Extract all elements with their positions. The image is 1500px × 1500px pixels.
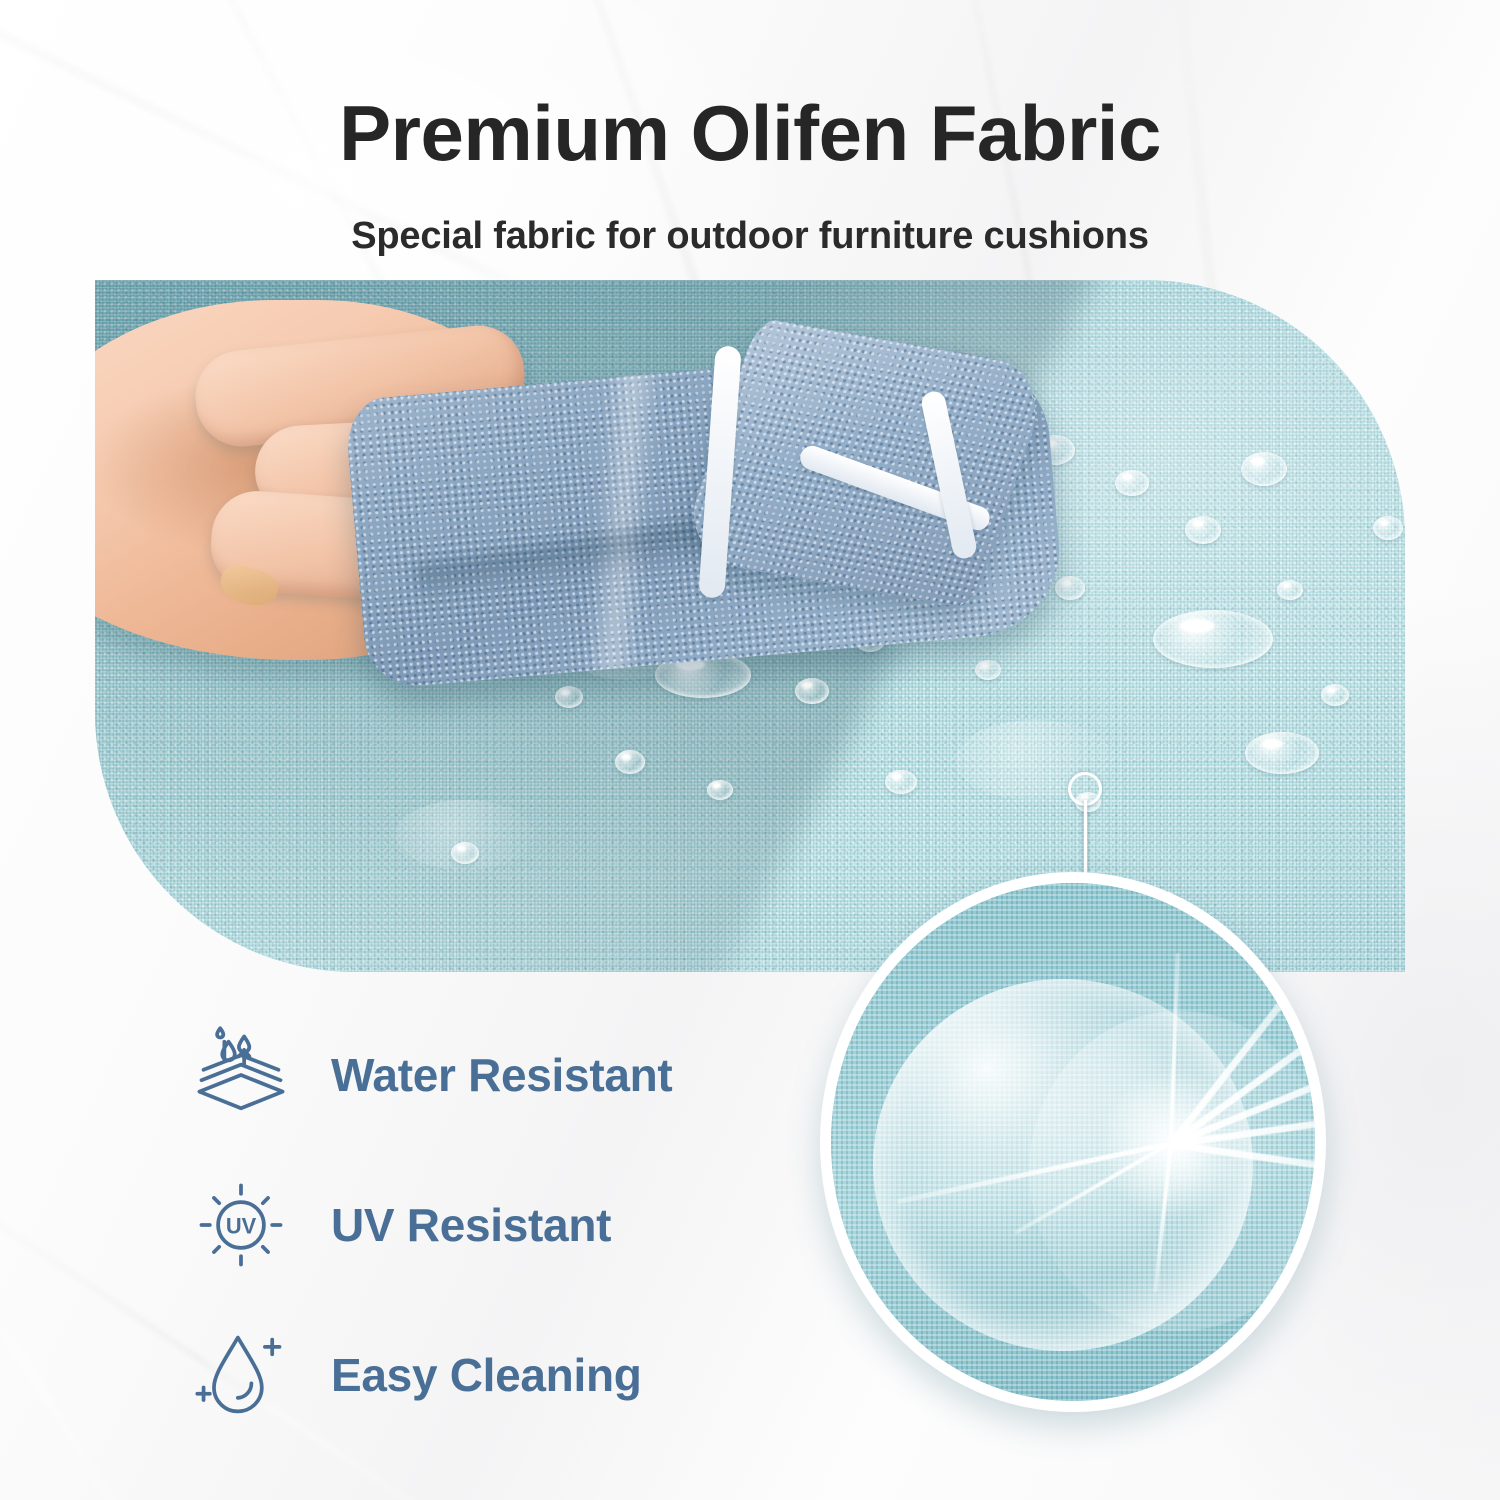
water-droplet xyxy=(975,660,1001,680)
page-subtitle: Special fabric for outdoor furniture cus… xyxy=(0,215,1500,258)
water-droplet xyxy=(795,678,829,704)
magnified-detail-inset xyxy=(820,872,1326,1412)
water-droplet xyxy=(1373,516,1403,540)
water-mist xyxy=(395,800,535,870)
water-droplet xyxy=(1321,684,1349,706)
feature-item-easy-cleaning: Easy Cleaning xyxy=(185,1300,805,1450)
easy-cleaning-droplet-icon xyxy=(185,1319,297,1431)
water-droplet xyxy=(555,686,583,708)
water-droplet-large xyxy=(1153,610,1273,668)
water-droplet xyxy=(1185,516,1221,544)
water-droplet xyxy=(1115,470,1149,496)
feature-label: Water Resistant xyxy=(331,1048,672,1102)
water-droplet xyxy=(615,750,645,774)
water-droplet xyxy=(885,770,917,794)
feature-item-uv-resistant: UV UV Resistant xyxy=(185,1150,805,1300)
water-droplet xyxy=(1277,580,1303,600)
product-photo xyxy=(95,280,1405,972)
water-droplet-large xyxy=(1245,732,1319,774)
feature-list: Water Resistant UV UV Resistant xyxy=(185,1000,805,1450)
water-droplet xyxy=(707,780,733,800)
feature-label: Easy Cleaning xyxy=(331,1348,642,1402)
water-resistant-layers-icon xyxy=(185,1019,297,1131)
page-title: Premium Olifen Fabric xyxy=(0,88,1500,179)
feature-label: UV Resistant xyxy=(331,1198,611,1252)
infographic-page: Premium Olifen Fabric Special fabric for… xyxy=(0,0,1500,1500)
uv-resistant-sun-icon: UV xyxy=(185,1169,297,1281)
water-droplet xyxy=(1241,452,1287,486)
feature-item-water-resistant: Water Resistant xyxy=(185,1000,805,1150)
light-flare-core xyxy=(1099,1069,1249,1219)
uv-badge-text: UV xyxy=(226,1213,257,1238)
